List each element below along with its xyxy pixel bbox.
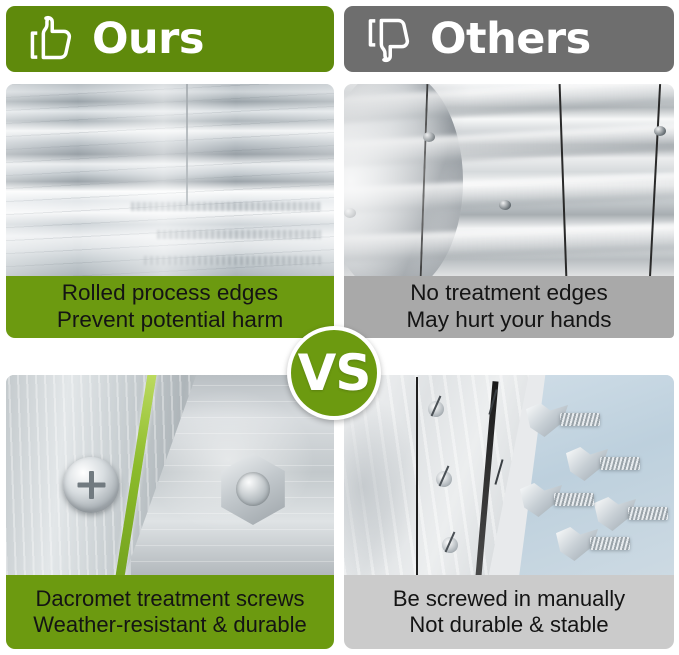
- texture-band: [157, 230, 321, 239]
- header-others-title: Others: [430, 18, 591, 61]
- caption-line: Not durable & stable: [409, 612, 608, 638]
- edge-seam-crack: [420, 84, 429, 279]
- corrugation-rib: [344, 172, 674, 214]
- caption-line: No treatment edges: [410, 280, 608, 307]
- texture-band: [131, 202, 321, 211]
- small-screw: [428, 401, 444, 417]
- screw-hole: [499, 200, 511, 210]
- caption-line: Dacromet treatment screws: [36, 586, 305, 612]
- wing-shaft: [628, 507, 668, 520]
- small-screw: [436, 471, 452, 487]
- header-ours-title: Ours: [92, 18, 204, 61]
- thumbs-down-icon: [362, 13, 416, 65]
- small-screw: [442, 537, 458, 553]
- header-others: Others: [344, 6, 674, 72]
- photo-others-raw-edges: [344, 84, 674, 279]
- vs-badge: VS: [287, 326, 381, 420]
- corrugation-rib: [344, 123, 674, 168]
- caption-line: Weather-resistant & durable: [33, 612, 307, 638]
- corrugation-rib: [344, 84, 674, 124]
- header-ours: Ours: [6, 6, 334, 72]
- texture-band: [144, 256, 321, 265]
- phillips-screw: [63, 457, 119, 513]
- edge-seam-crack: [558, 84, 567, 279]
- caption-ours-row2: Dacromet treatment screws Weather-resist…: [6, 575, 334, 649]
- comparison-infographic: Ours Others: [0, 0, 679, 655]
- caption-line: Be screwed in manually: [393, 586, 625, 612]
- panel-seam-crack: [416, 377, 418, 577]
- manual-screw-photo: [344, 375, 674, 578]
- caption-line: May hurt your hands: [406, 307, 611, 334]
- caption-others-row1: No treatment edges May hurt your hands: [344, 276, 674, 338]
- corrugated-edge-photo: [344, 84, 674, 279]
- corrugation-rib: [344, 224, 674, 262]
- panel-seam: [186, 84, 188, 205]
- panel-curl: [344, 84, 463, 279]
- screw-hole: [654, 126, 666, 136]
- caption-line: Prevent potential harm: [57, 307, 283, 334]
- dacromet-screw-photo: [6, 375, 334, 578]
- photo-ours-dacromet-screws: [6, 375, 334, 578]
- caption-line: Rolled process edges: [62, 280, 278, 307]
- thumbs-up-icon: [24, 13, 78, 65]
- wing-shaft: [600, 457, 640, 470]
- wing-shaft: [590, 537, 630, 550]
- wing-shaft: [560, 413, 600, 426]
- photo-others-manual-screws: [344, 375, 674, 578]
- edge-seam-crack: [649, 84, 661, 279]
- rolled-edge-photo: [6, 84, 334, 279]
- caption-ours-row1: Rolled process edges Prevent potential h…: [6, 276, 334, 338]
- vs-label: VS: [298, 348, 371, 398]
- wing-shaft: [554, 493, 594, 506]
- screw-hole: [423, 132, 435, 142]
- photo-ours-rolled-edges: [6, 84, 334, 279]
- screw-hole: [344, 208, 356, 218]
- caption-others-row2: Be screwed in manually Not durable & sta…: [344, 575, 674, 649]
